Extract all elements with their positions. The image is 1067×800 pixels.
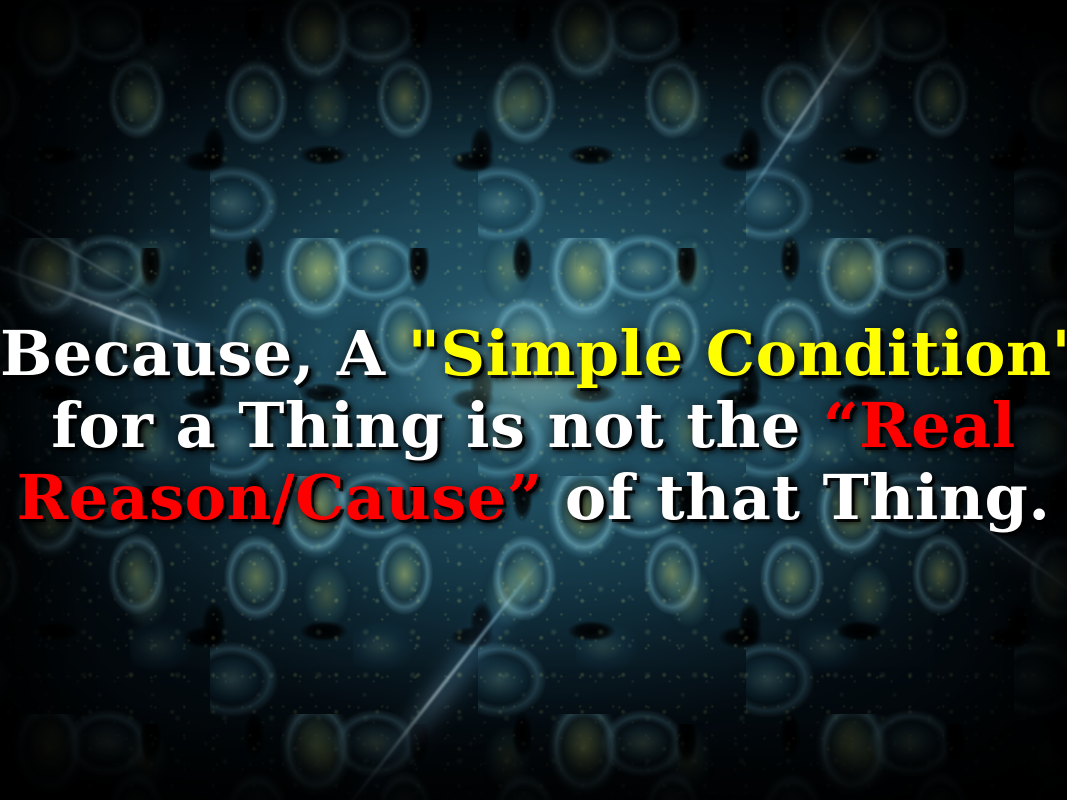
quote-text-block: Because, A "Simple Condition" for a Thin…: [0, 318, 1067, 534]
quote-poster: Because, A "Simple Condition" for a Thin…: [0, 0, 1067, 800]
quote-line-2-segment-2-highlight: “Real: [823, 389, 1016, 462]
quote-line-3: Reason/Cause” of that Thing.: [0, 462, 1067, 534]
light-ray-topright-glow: [721, 0, 939, 237]
quote-line-3-segment-2: of that Thing.: [543, 461, 1051, 534]
quote-line-1: Because, A "Simple Condition": [0, 318, 1067, 390]
quote-line-2: for a Thing is not the “Real: [0, 390, 1067, 462]
quote-line-1-segment-1: Because, A: [0, 317, 408, 390]
quote-line-2-segment-1: for a Thing is not the: [51, 389, 823, 462]
quote-line-3-segment-1-highlight: Reason/Cause”: [17, 461, 543, 534]
quote-line-1-segment-2-highlight: "Simple Condition": [408, 317, 1067, 390]
